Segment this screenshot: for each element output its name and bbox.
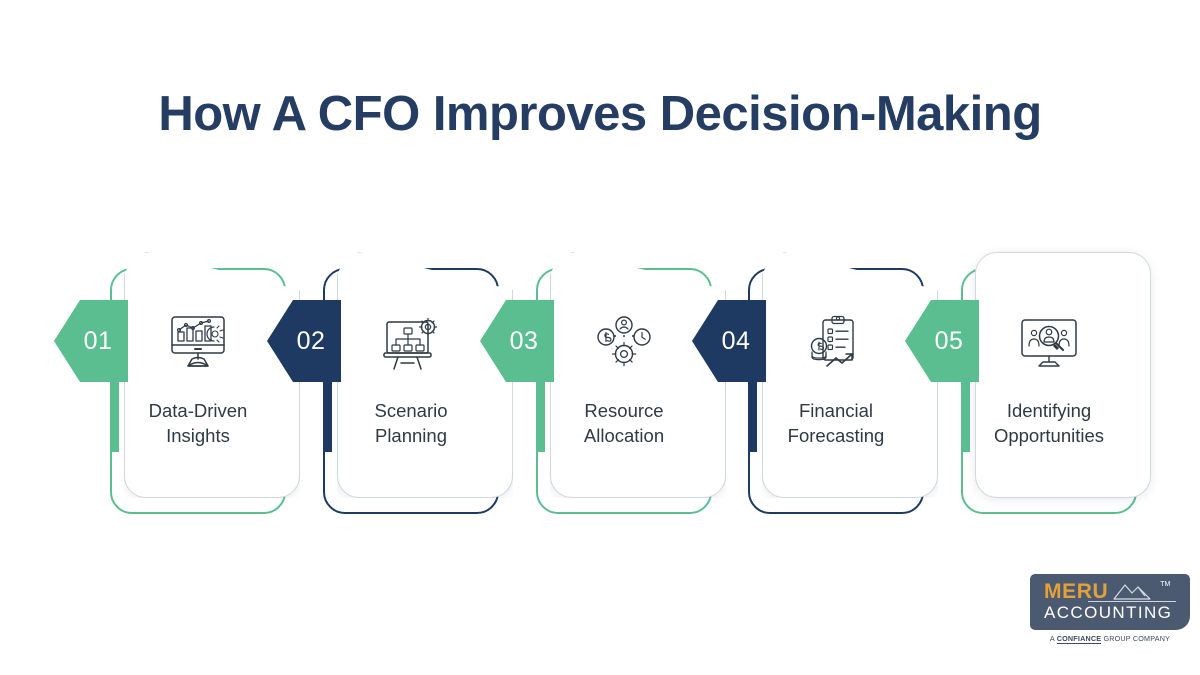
label-line-2: Planning	[375, 425, 447, 446]
logo-divider	[1088, 601, 1176, 602]
step-label-1: Data-Driven Insights	[116, 398, 280, 448]
step-number: 01	[70, 327, 113, 356]
step-label-5: Identifying Opportunities	[967, 398, 1131, 448]
label-line-1: Financial	[799, 400, 873, 421]
step-number: 04	[708, 327, 751, 356]
step-number: 03	[496, 327, 539, 356]
step-number: 05	[921, 327, 964, 356]
steps-row: 01	[0, 252, 1200, 522]
logo-plate: MERU TM ACCOUNTING	[1030, 574, 1190, 630]
label-line-1: Data-Driven	[149, 400, 248, 421]
label-line-2: Insights	[166, 425, 230, 446]
tagline-prefix: A	[1050, 634, 1057, 643]
step-card-4[interactable]: 04 Financial Forecasting	[748, 252, 938, 514]
brand-logo: MERU TM ACCOUNTING A CONFIANCE GROUP COM…	[1030, 574, 1190, 652]
logo-brand-secondary: ACCOUNTING	[1044, 603, 1172, 623]
step-label-3: Resource Allocation	[542, 398, 706, 448]
logo-tagline: A CONFIANCE GROUP COMPANY	[1030, 634, 1190, 643]
presentation-flowchart-gear-icon	[323, 308, 499, 380]
step-label-4: Financial Forecasting	[754, 398, 918, 448]
label-line-2: Forecasting	[788, 425, 885, 446]
label-line-2: Opportunities	[994, 425, 1104, 446]
label-line-1: Identifying	[1007, 400, 1091, 421]
page-title: How A CFO Improves Decision-Making	[0, 86, 1200, 142]
label-line-1: Resource	[584, 400, 663, 421]
step-card-1[interactable]: 01	[110, 252, 300, 514]
gear-dollar-person-clock-icon	[536, 308, 712, 380]
step-badge-1[interactable]: 01	[54, 300, 128, 382]
label-line-1: Scenario	[374, 400, 447, 421]
clipboard-coins-trend-icon	[748, 308, 924, 380]
trademark-mark: TM	[1160, 581, 1170, 588]
monitor-people-magnifier-icon	[961, 308, 1137, 380]
step-label-2: Scenario Planning	[329, 398, 493, 448]
logo-brand-primary: MERU	[1044, 581, 1108, 602]
step-number: 02	[283, 327, 326, 356]
label-line-2: Allocation	[584, 425, 664, 446]
step-card-5[interactable]: 05 Identifying Opportunities	[961, 252, 1151, 514]
step-card-2[interactable]: 02 Scenario Planning	[323, 252, 513, 514]
tagline-suffix: GROUP COMPANY	[1101, 634, 1170, 643]
monitor-chart-gear-icon	[110, 308, 286, 380]
tagline-brand: CONFIANCE	[1057, 634, 1102, 644]
step-card-3[interactable]: 03 Resource Allocation	[536, 252, 726, 514]
